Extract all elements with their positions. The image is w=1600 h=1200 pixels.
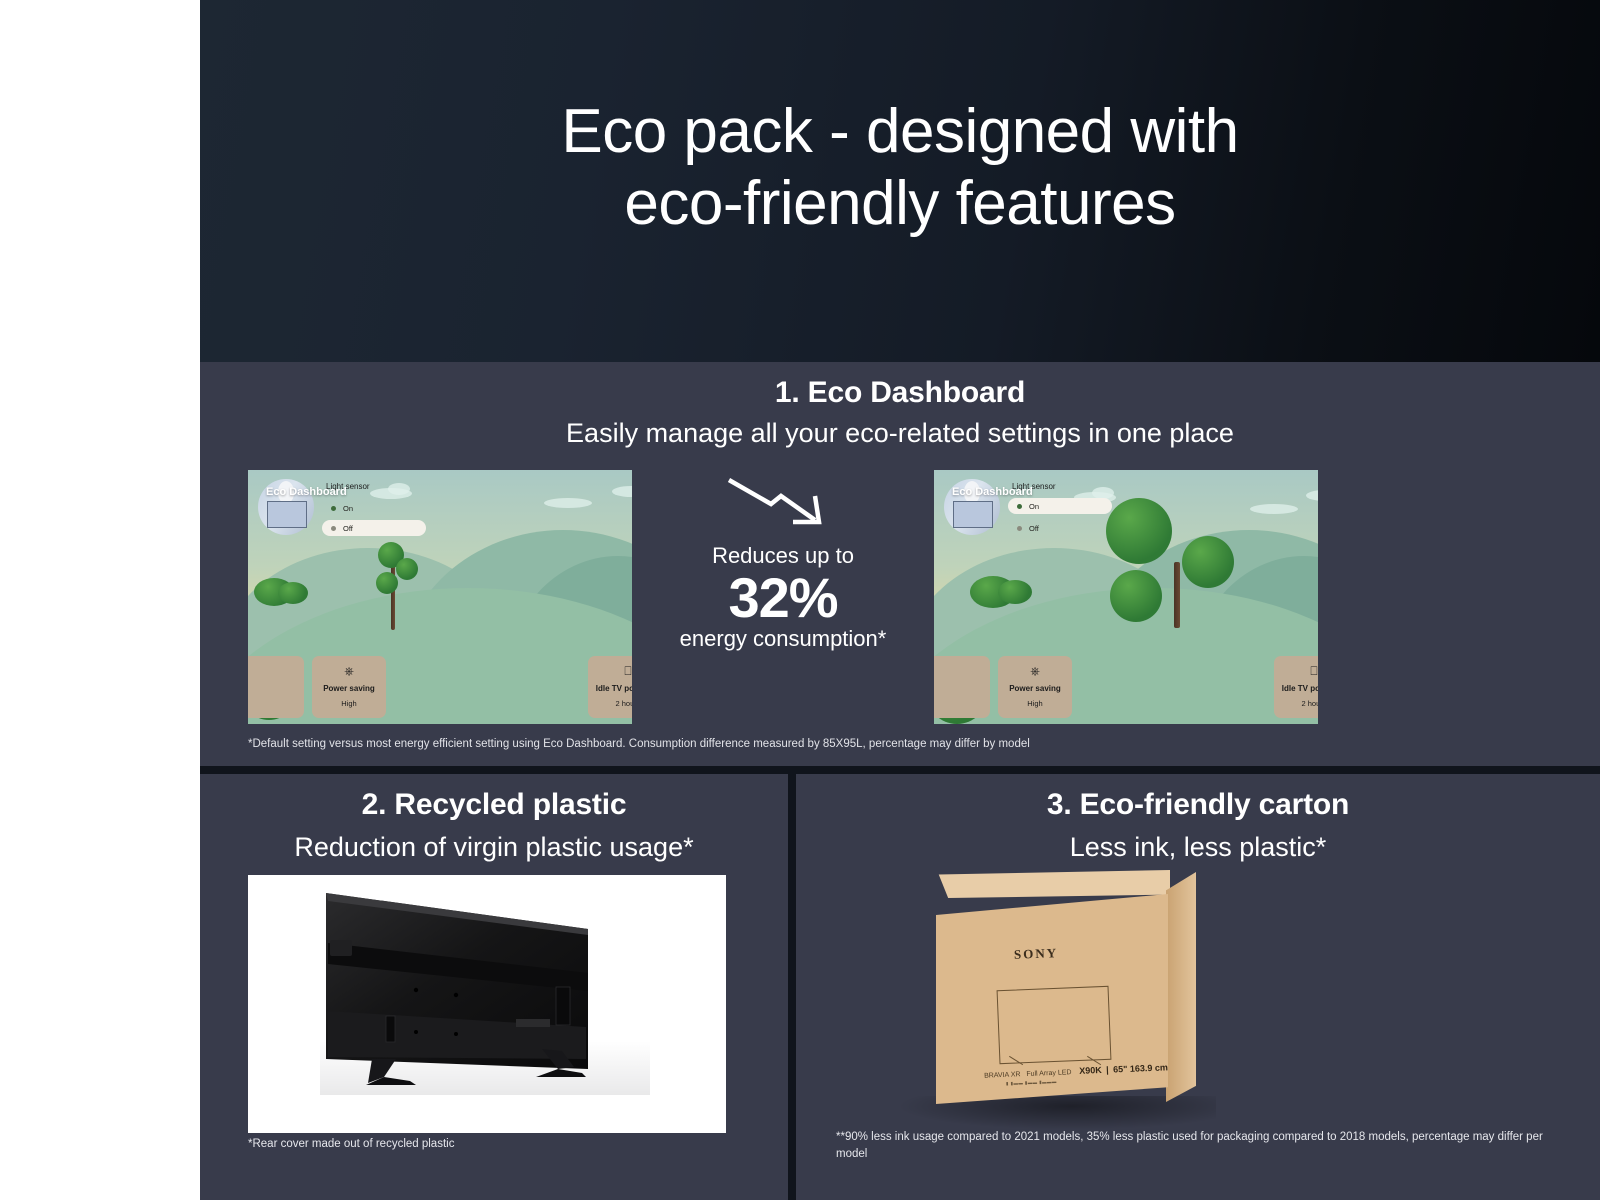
tree-leaf-right [1182,536,1234,588]
bulb-screen [953,501,993,528]
carton-sku: X90K [1079,1065,1102,1076]
radio-dot-off [331,526,336,531]
radio-dot-on [331,506,336,511]
section1-title: 1. Eco Dashboard [200,376,1600,410]
tile-partial-left[interactable] [934,656,990,718]
tile-power-saving-value: High [998,699,1072,708]
energy-saving-icon: ⎈ [998,665,1072,677]
cloud-2 [388,483,410,495]
bulb-screen [267,501,307,528]
bush-left-2 [278,582,308,604]
tree-leaf-left [376,572,398,594]
light-sensor-option-on-label: On [343,504,353,513]
carton-box-illustration: SONY BRAVIA XR Full Array LED X90K | 65"… [896,868,1316,1138]
carton-side-face [1166,872,1196,1102]
tile-idle-value: 2 hours [1274,699,1318,708]
tree-leaf-right [396,558,418,580]
tile-power-saving[interactable]: ⎈ Power saving High [998,656,1072,718]
tile-power-saving[interactable]: ⎈ Power saving High [312,656,386,718]
energy-reduction-callout: Reduces up to 32% energy consumption* [632,470,934,652]
idle-tv-icon: ⎕ [588,665,632,677]
radio-dot-off [1017,526,1022,531]
tile-idle-tv-power[interactable]: ⎕ Idle TV power off 2 hours [1274,656,1318,718]
section1-subtitle: Easily manage all your eco-related setti… [200,418,1600,449]
bush-left-2 [998,580,1032,604]
tile-idle-tv-power[interactable]: ⎕ Idle TV power off 2 hours [588,656,632,718]
cloud-3 [544,498,592,508]
section-eco-dashboard: 1. Eco Dashboard Easily manage all your … [200,362,1600,766]
carton-panel-type: Full Array LED [1026,1069,1071,1078]
tile-idle-label: Idle TV power off [588,684,632,693]
callout-trail: energy consumption* [632,626,934,652]
light-sensor-option-off[interactable]: Off [1008,520,1112,536]
eco-pack-infographic: Eco pack - designed with eco-friendly fe… [0,0,1600,1200]
tree-leaf-top [1106,498,1172,564]
carton-top-face [934,870,1170,898]
tile-power-saving-label: Power saving [998,684,1072,693]
section3-footnote: **90% less ink usage compared to 2021 mo… [836,1129,1566,1162]
page-title: Eco pack - designed with eco-friendly fe… [200,96,1600,240]
screen-header-label: Eco Dashboard [952,486,1033,498]
horizontal-divider [200,766,1600,774]
vertical-divider [788,766,796,1200]
down-trend-arrow-icon [723,470,843,532]
carton-size: 65" 163.9 cm [1113,1062,1168,1074]
carton-model-line: BRAVIA XR Full Array LED X90K | 65" 163.… [984,1062,1168,1079]
eco-dashboard-screen-before: Eco Dashboard ⎈ Power saving High Light … [248,470,632,724]
hero-banner: Eco pack - designed with eco-friendly fe… [200,0,1600,362]
hero-title-line1: Eco pack - designed with [561,97,1238,166]
light-sensor-option-off-label: Off [343,524,353,533]
eco-dashboard-screen-after: Eco Dashboard ⎈ Power saving High Light … [934,470,1318,724]
tile-power-saving-value: High [312,699,386,708]
sony-logo: SONY [1014,945,1059,963]
section3-title: 3. Eco-friendly carton [796,788,1600,822]
carton-tv-outline [997,986,1112,1064]
light-sensor-option-on-label: On [1029,502,1039,511]
tv-rear-photo [248,875,726,1133]
tile-idle-label: Idle TV power off [1274,684,1318,693]
section-recycled-plastic: 2. Recycled plastic Reduction of virgin … [200,774,788,1200]
hero-title-line2: eco-friendly features [200,168,1600,240]
energy-saving-icon: ⎈ [312,665,386,677]
section3-subtitle: Less ink, less plastic* [796,832,1600,863]
screen-header-label: Eco Dashboard [266,486,347,498]
callout-value: 32% [632,569,934,626]
cloud-3 [1250,504,1298,514]
tree-leaf-left [1110,570,1162,622]
light-sensor-option-on[interactable]: On [1008,498,1112,514]
carton-fine-print: ▮ ▮▬▬ ▮▬▬ ▮▬▬▬ [1006,1079,1057,1087]
section1-footnote: *Default setting versus most energy effi… [248,738,1548,750]
section2-subtitle: Reduction of virgin plastic usage* [200,832,788,863]
radio-dot-on [1017,504,1022,509]
tree-trunk [1174,562,1180,628]
section-eco-carton: 3. Eco-friendly carton Less ink, less pl… [796,774,1600,1200]
idle-tv-icon: ⎕ [1274,665,1318,677]
light-sensor-option-off[interactable]: Off [322,520,426,536]
carton-series: BRAVIA XR [984,1071,1021,1079]
tile-idle-value: 2 hours [588,699,632,708]
tile-power-saving-label: Power saving [312,684,386,693]
light-sensor-option-off-label: Off [1029,524,1039,533]
section2-title: 2. Recycled plastic [200,788,788,822]
tile-partial-left[interactable] [248,656,304,718]
tv-rear-illustration [320,891,650,1095]
carton-front-face: SONY BRAVIA XR Full Array LED X90K | 65"… [936,894,1168,1104]
light-sensor-option-on[interactable]: On [322,500,426,516]
section2-footnote: *Rear cover made out of recycled plastic [248,1138,454,1150]
